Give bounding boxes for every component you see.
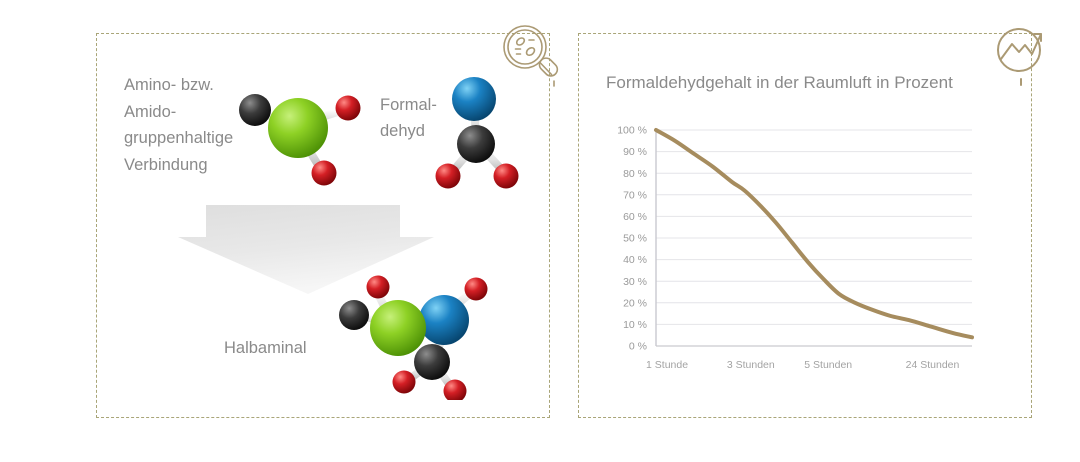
atom-center-green (268, 98, 328, 158)
y-axis-tick-label: 90 % (623, 146, 647, 158)
infographic-canvas: Amino- bzw. Amido- gruppenhaltige Verbin… (0, 0, 1080, 462)
y-axis-tick-label: 20 % (623, 297, 647, 309)
formaldehyde-molecule (432, 68, 540, 190)
atom-oxygen (336, 96, 361, 121)
product-label: Halbaminal (224, 339, 307, 358)
reagent-label-text: Formal- dehyd (380, 96, 437, 140)
atom-oxygen (465, 278, 488, 301)
atom-center-green (370, 300, 426, 356)
atom-oxygen (393, 371, 416, 394)
atom-oxygen (494, 164, 519, 189)
y-axis-tick-label: 10 % (623, 319, 647, 331)
atom-carbon (414, 344, 450, 380)
atom-oxygen (367, 276, 390, 299)
y-axis-tick-label: 50 % (623, 233, 647, 245)
reactant-label-text: Amino- bzw. Amido- gruppenhaltige Verbin… (124, 76, 233, 174)
x-axis-tick-label: 3 Stunden (727, 359, 775, 371)
y-axis-tick-label: 40 % (623, 254, 647, 266)
y-axis-tick-label: 0 % (629, 341, 647, 353)
x-axis-tick-label: 24 Stunden (906, 359, 960, 371)
atom-carbon (339, 300, 369, 330)
y-axis-tick-label: 80 % (623, 168, 647, 180)
atom-nitrogen (452, 77, 496, 121)
x-axis-tick-label: 5 Stunden (804, 359, 852, 371)
trend-chart-circle-icon (988, 21, 1054, 87)
x-axis-tick-label: 1 Stunde (646, 359, 688, 371)
atom-oxygen (312, 161, 337, 186)
line-chart: 100 %90 %80 %70 %60 %50 %40 %30 %20 %10 … (598, 118, 998, 383)
chart-title: Formaldehydgehalt in der Raumluft in Pro… (606, 73, 953, 93)
series-line-formaldehydgehalt (656, 130, 972, 337)
halbaminal-molecule (324, 268, 512, 400)
atom-carbon (239, 94, 271, 126)
atom-carbon (457, 125, 495, 163)
amino-compound-molecule (228, 72, 378, 192)
atom-oxygen (436, 164, 461, 189)
y-axis-tick-label: 60 % (623, 211, 647, 223)
y-axis-tick-label: 100 % (617, 125, 647, 137)
y-axis-tick-label: 70 % (623, 189, 647, 201)
y-axis-tick-label: 30 % (623, 276, 647, 288)
atom-nitrogen (419, 295, 469, 345)
